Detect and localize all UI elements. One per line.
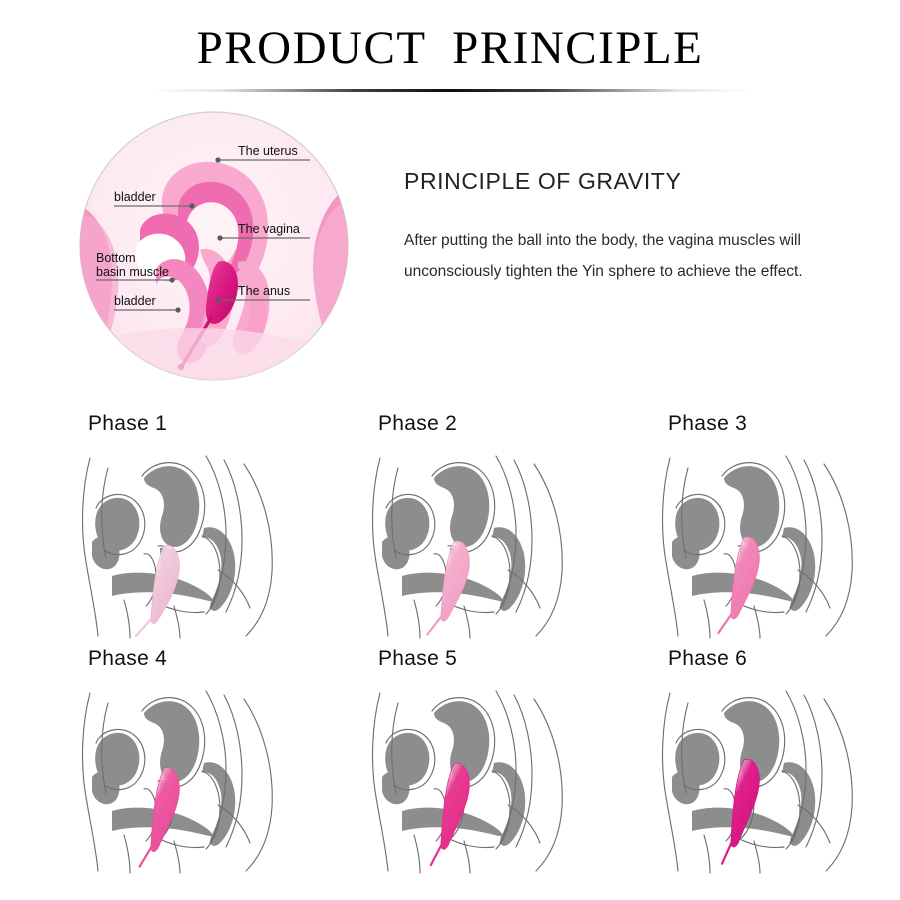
label-the-uterus: The uterus — [238, 144, 298, 158]
phase-anatomy-svg — [658, 685, 878, 875]
retrieval-cord — [140, 846, 152, 867]
page-header: PRODUCT PRINCIPLE — [0, 0, 900, 92]
retrieval-cord — [718, 613, 732, 633]
label-basin-muscle: basin muscle — [96, 265, 169, 279]
phase-anatomy-svg — [78, 450, 298, 640]
phase-label-5: Phase 5 — [378, 647, 457, 671]
phase-figure-4 — [78, 685, 298, 875]
phase-label-6: Phase 6 — [668, 647, 747, 671]
retrieval-cord — [427, 616, 442, 635]
phase-cell-1: Phase 1 — [70, 412, 360, 647]
phase-figure-6 — [658, 685, 878, 875]
phase-anatomy-svg — [368, 450, 588, 640]
uterus-mass — [144, 466, 199, 547]
gravity-heading: PRINCIPLE OF GRAVITY — [404, 168, 874, 195]
retrieval-cord — [722, 841, 732, 863]
phase-figure-5 — [368, 685, 588, 875]
phase-label-1: Phase 1 — [88, 412, 167, 436]
phase-figure-1 — [78, 450, 298, 640]
phase-figure-2 — [368, 450, 588, 640]
phase-cell-4: Phase 4 — [70, 647, 360, 882]
label-bladder-upper: bladder — [114, 190, 156, 204]
phase-label-2: Phase 2 — [378, 412, 457, 436]
kegel-ball — [441, 764, 469, 850]
uterus-mass — [434, 466, 489, 547]
phase-grid: Phase 1 — [0, 412, 900, 882]
retrieval-cord — [136, 618, 152, 636]
anatomy-svg: bladder Bottom basin muscle bladder The … — [78, 110, 350, 382]
phase-anatomy-svg — [658, 450, 878, 640]
kegel-ball — [151, 768, 179, 852]
gravity-body: After putting the ball into the body, th… — [404, 225, 844, 287]
title-divider — [150, 89, 750, 92]
phase-label-4: Phase 4 — [88, 647, 167, 671]
phase-figure-3 — [658, 450, 878, 640]
phase-anatomy-svg — [78, 685, 298, 875]
phase-cell-5: Phase 5 — [360, 647, 650, 882]
phase-cell-6: Phase 6 — [650, 647, 900, 882]
label-bottom: Bottom — [96, 251, 136, 265]
phase-label-3: Phase 3 — [668, 412, 747, 436]
label-bladder-lower: bladder — [114, 294, 156, 308]
phase-cell-3: Phase 3 — [650, 412, 900, 647]
anatomy-diagram: bladder Bottom basin muscle bladder The … — [78, 110, 350, 382]
phase-cell-2: Phase 2 — [360, 412, 650, 647]
gravity-text-block: PRINCIPLE OF GRAVITY After putting the b… — [404, 168, 874, 287]
label-the-vagina: The vagina — [238, 222, 300, 236]
phase-anatomy-svg — [368, 685, 588, 875]
principle-section: bladder Bottom basin muscle bladder The … — [0, 102, 900, 392]
page-title: PRODUCT PRINCIPLE — [0, 24, 900, 73]
retrieval-cord — [431, 844, 442, 865]
uterus-mass — [724, 466, 779, 547]
label-the-anus: The anus — [238, 284, 290, 298]
